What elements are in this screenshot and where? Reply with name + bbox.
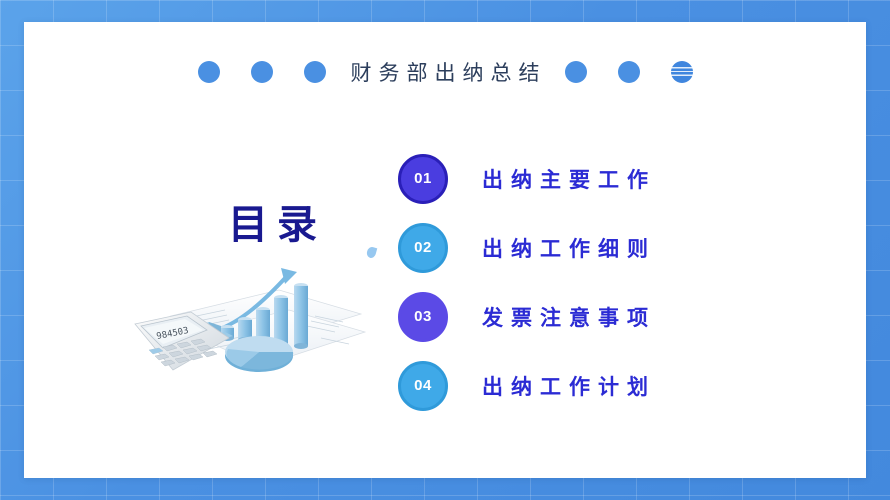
header-dot-icon-2	[251, 61, 273, 83]
finance-3d-illustration: 984503	[129, 264, 379, 394]
slide-header: 财务部出纳总结	[24, 48, 866, 96]
page-title: 目录	[134, 192, 414, 250]
header-dot-icon-1	[198, 61, 220, 83]
agenda-label-04: 出纳工作计划	[482, 371, 656, 401]
agenda-number-badge-03: 03	[398, 292, 448, 342]
agenda-item-03[interactable]: 03 发票注意事项	[398, 282, 818, 351]
agenda-label-03: 发票注意事项	[482, 302, 656, 332]
slide-canvas: 财务部出纳总结 目录	[24, 22, 866, 478]
agenda-item-01[interactable]: 01 出纳主要工作	[398, 144, 818, 213]
agenda-label-01: 出纳主要工作	[482, 164, 656, 194]
slide-header-title: 财务部出纳总结	[326, 57, 565, 87]
illustration-svg: 984503	[129, 264, 379, 394]
header-globe-icon	[671, 61, 693, 83]
agenda-item-04[interactable]: 04 出纳工作计划	[398, 351, 818, 420]
agenda-label-02: 出纳工作细则	[482, 233, 656, 263]
agenda-number-badge-01: 01	[398, 154, 448, 204]
header-dot-icon-4	[565, 61, 587, 83]
presentation-slide: 财务部出纳总结 目录	[0, 0, 890, 500]
agenda-item-02[interactable]: 02 出纳工作细则	[398, 213, 818, 282]
header-dot-icon-3	[304, 61, 326, 83]
agenda-number-badge-02: 02	[398, 223, 448, 273]
header-dot-icon-5	[618, 61, 640, 83]
agenda-number-badge-04: 04	[398, 361, 448, 411]
section-title-block: 目录	[134, 192, 414, 394]
agenda-list: 01 出纳主要工作 02 出纳工作细则 03 发票注意事项 04 出纳工作计划	[398, 144, 818, 420]
